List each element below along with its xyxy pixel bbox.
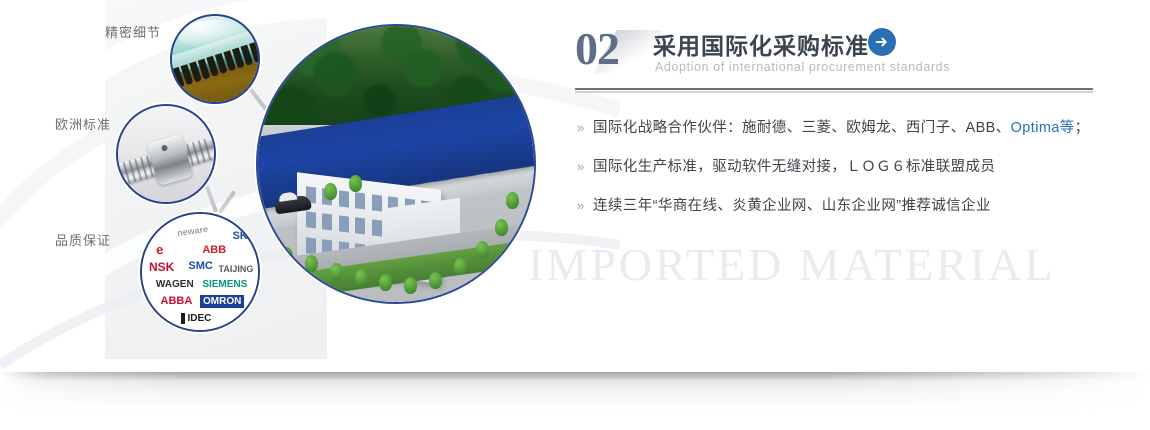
chevron-right-icon: »	[577, 196, 593, 216]
chevron-right-icon: »	[577, 157, 593, 177]
header-divider	[575, 88, 1093, 93]
tree-icon	[429, 272, 442, 289]
list-item-suffix: ；	[1075, 120, 1090, 136]
tree-icon	[355, 269, 368, 286]
tree-icon	[404, 277, 417, 294]
office-window	[371, 219, 381, 236]
brand-logos-circle: newareSKFeABBNSKSMCTAIJINGWAGENSIEMENSAB…	[140, 212, 260, 332]
list-item-text: 国际化战略合作伙伴：施耐德、三菱、欧姆龙、西门子、ABB、	[593, 120, 1011, 136]
tree-icon	[280, 247, 293, 264]
brand-logo: WAGEN	[156, 279, 194, 290]
list-item: »国际化生产标准，驱动软件无缝对接，ＬＯＧ６标准联盟成员	[577, 157, 1097, 177]
brand-logo: SMC	[188, 260, 212, 272]
tree-icon	[454, 258, 467, 275]
list-item-label: 连续三年“华商在线、炎黄企业网、山东企业网”推荐诚信企业	[593, 196, 991, 216]
brand-logo: NSK	[149, 260, 174, 274]
list-item-text: 国际化生产标准，驱动软件无缝对接，ＬＯＧ６标准联盟成员	[593, 159, 995, 175]
ball-screw-circle	[116, 104, 216, 204]
section-number: 02	[575, 22, 619, 75]
section-content: 02 采用国际化采购标准 Adoption of international p…	[575, 24, 1095, 86]
page-title: 采用国际化采购标准	[653, 27, 869, 61]
tree-icon	[476, 241, 489, 258]
bullet-list: »国际化战略合作伙伴：施耐德、三菱、欧姆龙、西门子、ABB、Optima等；»国…	[577, 118, 1097, 235]
list-item: »连续三年“华商在线、炎黄企业网、山东企业网”推荐诚信企业	[577, 196, 1097, 216]
office-window	[305, 237, 315, 254]
brand-logo: SKF	[232, 230, 254, 242]
office-window	[355, 192, 365, 209]
label-quality-assurance: 品质保证	[55, 230, 111, 249]
factory-photo-circle	[256, 24, 536, 304]
section-header: 02 采用国际化采购标准 Adoption of international p…	[575, 24, 1095, 86]
chevron-right-icon: »	[577, 118, 593, 138]
arrow-right-icon[interactable]	[868, 28, 896, 56]
brand-logo: ABB	[202, 244, 226, 256]
list-item-highlight: Optima等	[1011, 120, 1075, 136]
brand-logo: neware	[176, 223, 208, 237]
tree-icon	[324, 183, 337, 200]
brand-logo: ABBA	[161, 295, 193, 307]
list-item-label: 国际化战略合作伙伴：施耐德、三菱、欧姆龙、西门子、ABB、Optima等；	[593, 118, 1090, 138]
page-stage: 精密细节 欧洲标准 品质保证 newareSKFeABBNSKSMCTAIJIN…	[0, 0, 1150, 430]
list-item-text: 连续三年“华商在线、炎黄企业网、山东企业网”推荐诚信企业	[593, 198, 991, 214]
label-european-standard: 欧洲标准	[55, 114, 111, 133]
section-subtitle: Adoption of international procurement st…	[655, 60, 950, 74]
office-window	[305, 211, 315, 228]
bottom-reflection-band	[0, 372, 1150, 418]
list-item-label: 国际化生产标准，驱动软件无缝对接，ＬＯＧ６标准联盟成员	[593, 157, 995, 177]
office-window	[355, 217, 365, 234]
brand-logo: TAIJING	[219, 264, 254, 274]
brand-logo: IDEC	[181, 313, 211, 324]
list-item: »国际化战略合作伙伴：施耐德、三菱、欧姆龙、西门子、ABB、Optima等；	[577, 118, 1097, 138]
brand-logo: OMRON	[200, 295, 244, 308]
office-window	[322, 213, 332, 230]
brand-logo: e	[155, 241, 164, 257]
tree-icon	[330, 263, 343, 280]
watermark-text: IMPORTED MATERIAL	[528, 238, 1055, 291]
brand-logo: SIEMENS	[202, 279, 247, 290]
label-precision-detail: 精密细节	[105, 22, 161, 41]
office-window	[371, 194, 381, 211]
tree-icon	[305, 255, 318, 272]
office-window	[338, 190, 348, 207]
tree-icon	[349, 175, 362, 192]
gear-detail-circle	[170, 14, 260, 104]
office-window	[338, 215, 348, 232]
tree-icon	[506, 192, 519, 209]
